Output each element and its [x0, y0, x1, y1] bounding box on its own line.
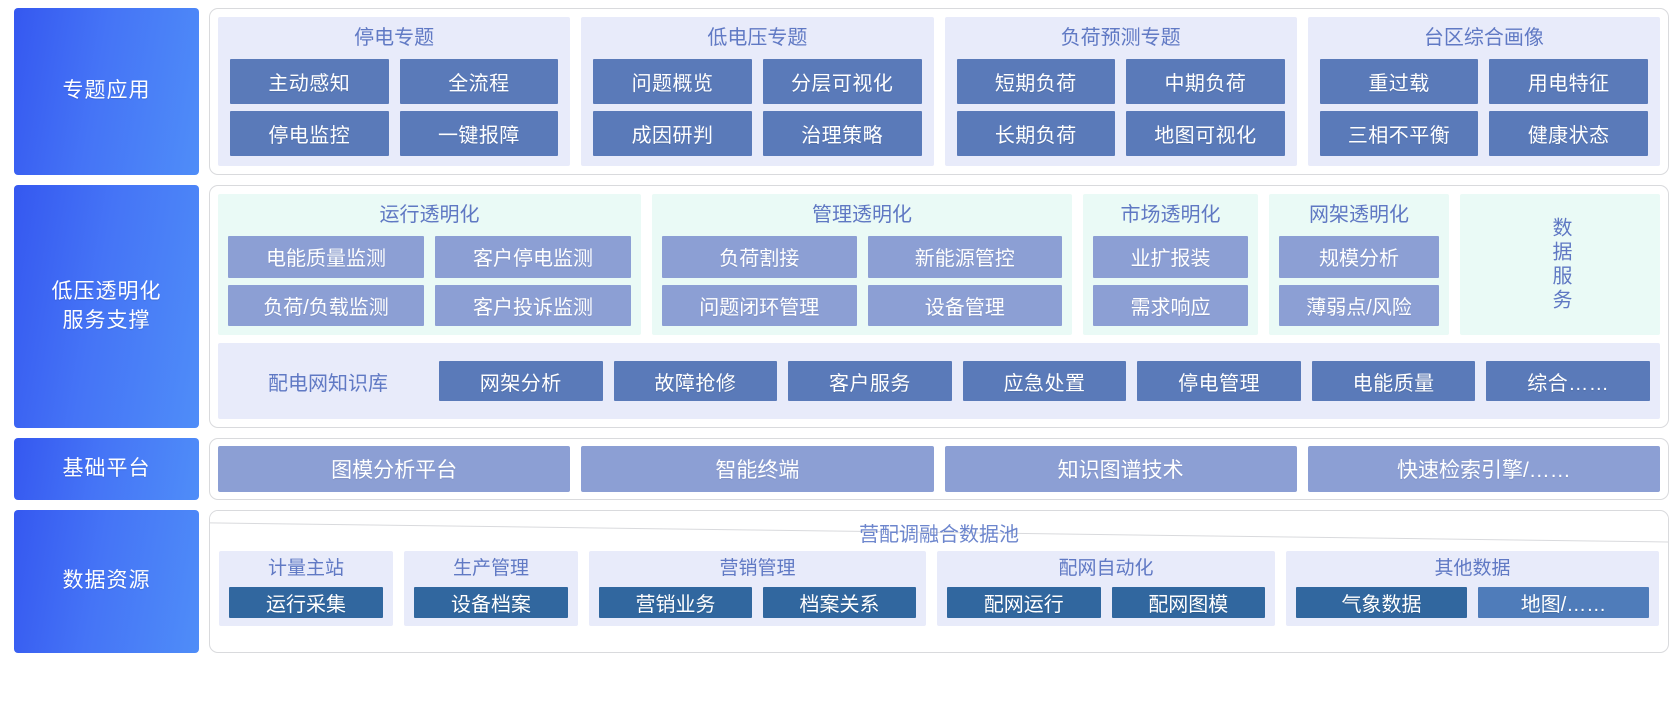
- chip-weather-data[interactable]: 气象数据: [1296, 587, 1467, 618]
- group-title-low-voltage-topic: 低电压专题: [593, 23, 921, 59]
- chip-outage-management[interactable]: 停电管理: [1137, 361, 1301, 401]
- chip-new-energy-control[interactable]: 新能源管控: [868, 236, 1063, 278]
- chip-operation-collection[interactable]: 运行采集: [229, 587, 383, 618]
- group-market-transparency: 市场透明化 业扩报装 需求响应: [1083, 194, 1258, 335]
- panel-data-service: 数据服务: [1460, 194, 1660, 335]
- chip-fault-repair[interactable]: 故障抢修: [614, 361, 778, 401]
- chip-customer-complaint-monitor[interactable]: 客户投诉监测: [435, 285, 631, 327]
- group-items-low-voltage-topic: 问题概览 分层可视化 成因研判 治理策略: [593, 59, 921, 156]
- chip-grid-analysis[interactable]: 网架分析: [439, 361, 603, 401]
- group-title-load-forecast-topic: 负荷预测专题: [957, 23, 1285, 59]
- chip-problem-overview[interactable]: 问题概览: [593, 59, 752, 104]
- group-title-marketing-mgmt: 营销管理: [599, 554, 916, 587]
- layer-topic-applications: 专题应用 停电专题 主动感知 全流程 停电监控 一键报障 低电压专题 问题概览 …: [14, 8, 1669, 175]
- chip-customer-outage-monitor[interactable]: 客户停电监测: [435, 236, 631, 278]
- group-network-transparency: 网架透明化 规模分析 薄弱点/风险: [1269, 194, 1449, 335]
- layer-data-resources: 数据资源 营配调融合数据池 计量主站 运行采集 生产管理 设备档案: [14, 510, 1669, 653]
- chip-power-quality[interactable]: 电能质量: [1312, 361, 1476, 401]
- group-title-other-data: 其他数据: [1296, 554, 1649, 587]
- group-title-station-profile: 台区综合画像: [1320, 23, 1648, 59]
- layer-label-line1: 低压透明化: [52, 280, 162, 303]
- data-pool-title: 营配调融合数据池: [210, 511, 1668, 551]
- chip-archive-relation[interactable]: 档案关系: [763, 587, 916, 618]
- chip-smart-terminal[interactable]: 智能终端: [581, 446, 933, 492]
- chip-cause-analysis[interactable]: 成因研判: [593, 111, 752, 156]
- group-title-outage-topic: 停电专题: [230, 23, 558, 59]
- chip-equipment-mgmt[interactable]: 设备管理: [868, 285, 1063, 327]
- group-items-metering-master: 运行采集: [229, 587, 383, 618]
- group-marketing-mgmt: 营销管理 营销业务 档案关系: [589, 551, 926, 626]
- chip-marketing-business[interactable]: 营销业务: [599, 587, 752, 618]
- chip-three-phase-unbal[interactable]: 三相不平衡: [1320, 111, 1479, 156]
- layer-body-topic-applications: 停电专题 主动感知 全流程 停电监控 一键报障 低电压专题 问题概览 分层可视化…: [209, 8, 1669, 175]
- chip-demand-response[interactable]: 需求响应: [1093, 285, 1248, 327]
- knowledge-base-band: 配电网知识库 网架分析 故障抢修 客户服务 应急处置 停电管理 电能质量 综合……: [218, 343, 1660, 419]
- architecture-diagram: 专题应用 停电专题 主动感知 全流程 停电监控 一键报障 低电压专题 问题概览 …: [0, 0, 1679, 707]
- chip-knowledge-graph-tech[interactable]: 知识图谱技术: [945, 446, 1297, 492]
- transparency-groups-row: 运行透明化 电能质量监测 客户停电监测 负荷/负载监测 客户投诉监测 管理透明化…: [218, 194, 1660, 335]
- group-items-marketing-mgmt: 营销业务 档案关系: [599, 587, 916, 618]
- chip-graph-model-platform[interactable]: 图模分析平台: [218, 446, 570, 492]
- chip-load-transfer[interactable]: 负荷割接: [662, 236, 857, 278]
- group-title-network-transparency: 网架透明化: [1279, 200, 1439, 236]
- group-items-station-profile: 重过载 用电特征 三相不平衡 健康状态: [1320, 59, 1648, 156]
- chip-weak-point-risk[interactable]: 薄弱点/风险: [1279, 285, 1439, 327]
- chip-map-visual[interactable]: 地图可视化: [1126, 111, 1285, 156]
- group-low-voltage-topic: 低电压专题 问题概览 分层可视化 成因研判 治理策略: [581, 17, 933, 166]
- group-operation-transparency: 运行透明化 电能质量监测 客户停电监测 负荷/负载监测 客户投诉监测: [218, 194, 641, 335]
- layer-label-lv-transparency-support: 低压透明化 服务支撑: [14, 185, 199, 428]
- group-distribution-automation: 配网自动化 配网运行 配网图模: [937, 551, 1275, 626]
- group-title-operation-transparency: 运行透明化: [228, 200, 631, 236]
- layer-body-lv-transparency-support: 运行透明化 电能质量监测 客户停电监测 负荷/负载监测 客户投诉监测 管理透明化…: [209, 185, 1669, 428]
- group-outage-topic: 停电专题 主动感知 全流程 停电监控 一键报障: [218, 17, 570, 166]
- chip-power-quality-monitor[interactable]: 电能质量监测: [228, 236, 424, 278]
- layer-base-platform: 基础平台 图模分析平台 智能终端 知识图谱技术 快速检索引擎/……: [14, 438, 1669, 500]
- group-other-data: 其他数据 气象数据 地图/……: [1286, 551, 1659, 626]
- chip-health-status[interactable]: 健康状态: [1489, 111, 1648, 156]
- chip-equipment-archive[interactable]: 设备档案: [414, 587, 568, 618]
- chip-layered-visual[interactable]: 分层可视化: [763, 59, 922, 104]
- knowledge-base-title: 配电网知识库: [228, 367, 428, 396]
- layer-lv-transparency-support: 低压透明化 服务支撑 运行透明化 电能质量监测 客户停电监测 负荷/负载监测 客…: [14, 185, 1669, 428]
- chip-scale-analysis[interactable]: 规模分析: [1279, 236, 1439, 278]
- panel-data-service-label: 数据服务: [1549, 217, 1571, 313]
- layer-label-data-resources: 数据资源: [14, 510, 199, 653]
- data-source-groups: 计量主站 运行采集 生产管理 设备档案 营销管理 营销业务 档案关系: [210, 551, 1668, 635]
- group-items-management-transparency: 负荷割接 新能源管控 问题闭环管理 设备管理: [662, 236, 1062, 326]
- chip-governance-policy[interactable]: 治理策略: [763, 111, 922, 156]
- chip-distribution-operation[interactable]: 配网运行: [947, 587, 1101, 618]
- chip-map-more[interactable]: 地图/……: [1478, 587, 1649, 618]
- chip-outage-monitor[interactable]: 停电监控: [230, 111, 389, 156]
- group-items-market-transparency: 业扩报装 需求响应: [1093, 236, 1248, 326]
- group-items-distribution-automation: 配网运行 配网图模: [947, 587, 1265, 618]
- chip-heavy-overload[interactable]: 重过载: [1320, 59, 1479, 104]
- group-title-management-transparency: 管理透明化: [662, 200, 1062, 236]
- chip-long-term-load[interactable]: 长期负荷: [957, 111, 1116, 156]
- group-title-production-mgmt: 生产管理: [414, 554, 568, 587]
- chip-issue-closed-loop[interactable]: 问题闭环管理: [662, 285, 857, 327]
- group-items-load-forecast-topic: 短期负荷 中期负荷 长期负荷 地图可视化: [957, 59, 1285, 156]
- group-metering-master: 计量主站 运行采集: [219, 551, 393, 626]
- group-management-transparency: 管理透明化 负荷割接 新能源管控 问题闭环管理 设备管理: [652, 194, 1072, 335]
- chip-distribution-graph-model[interactable]: 配网图模: [1112, 587, 1266, 618]
- chip-one-click-report[interactable]: 一键报障: [400, 111, 559, 156]
- group-production-mgmt: 生产管理 设备档案: [404, 551, 578, 626]
- layer-label-topic-applications: 专题应用: [14, 8, 199, 175]
- group-items-network-transparency: 规模分析 薄弱点/风险: [1279, 236, 1439, 326]
- chip-emergency-handling[interactable]: 应急处置: [963, 361, 1127, 401]
- chip-short-term-load[interactable]: 短期负荷: [957, 59, 1116, 104]
- group-items-production-mgmt: 设备档案: [414, 587, 568, 618]
- chip-customer-service[interactable]: 客户服务: [788, 361, 952, 401]
- group-items-other-data: 气象数据 地图/……: [1296, 587, 1649, 618]
- chip-usage-feature[interactable]: 用电特征: [1489, 59, 1648, 104]
- group-items-outage-topic: 主动感知 全流程 停电监控 一键报障: [230, 59, 558, 156]
- group-station-profile: 台区综合画像 重过载 用电特征 三相不平衡 健康状态: [1308, 17, 1660, 166]
- chip-fast-search-engine[interactable]: 快速检索引擎/……: [1308, 446, 1660, 492]
- chip-mid-term-load[interactable]: 中期负荷: [1126, 59, 1285, 104]
- chip-comprehensive-more[interactable]: 综合……: [1486, 361, 1650, 401]
- layer-label-base-platform: 基础平台: [14, 438, 199, 500]
- group-title-metering-master: 计量主站: [229, 554, 383, 587]
- chip-load-monitor[interactable]: 负荷/负载监测: [228, 285, 424, 327]
- group-items-operation-transparency: 电能质量监测 客户停电监测 负荷/负载监测 客户投诉监测: [228, 236, 631, 326]
- chip-active-sensing[interactable]: 主动感知: [230, 59, 389, 104]
- group-title-market-transparency: 市场透明化: [1093, 200, 1248, 236]
- group-title-distribution-automation: 配网自动化: [947, 554, 1265, 587]
- chip-service-expansion[interactable]: 业扩报装: [1093, 236, 1248, 278]
- layer-body-data-resources: 营配调融合数据池 计量主站 运行采集 生产管理 设备档案 营销管理: [209, 510, 1669, 653]
- chip-full-process[interactable]: 全流程: [400, 59, 559, 104]
- group-load-forecast-topic: 负荷预测专题 短期负荷 中期负荷 长期负荷 地图可视化: [945, 17, 1297, 166]
- layer-label-line2: 服务支撑: [63, 309, 151, 332]
- layer-body-base-platform: 图模分析平台 智能终端 知识图谱技术 快速检索引擎/……: [209, 438, 1669, 500]
